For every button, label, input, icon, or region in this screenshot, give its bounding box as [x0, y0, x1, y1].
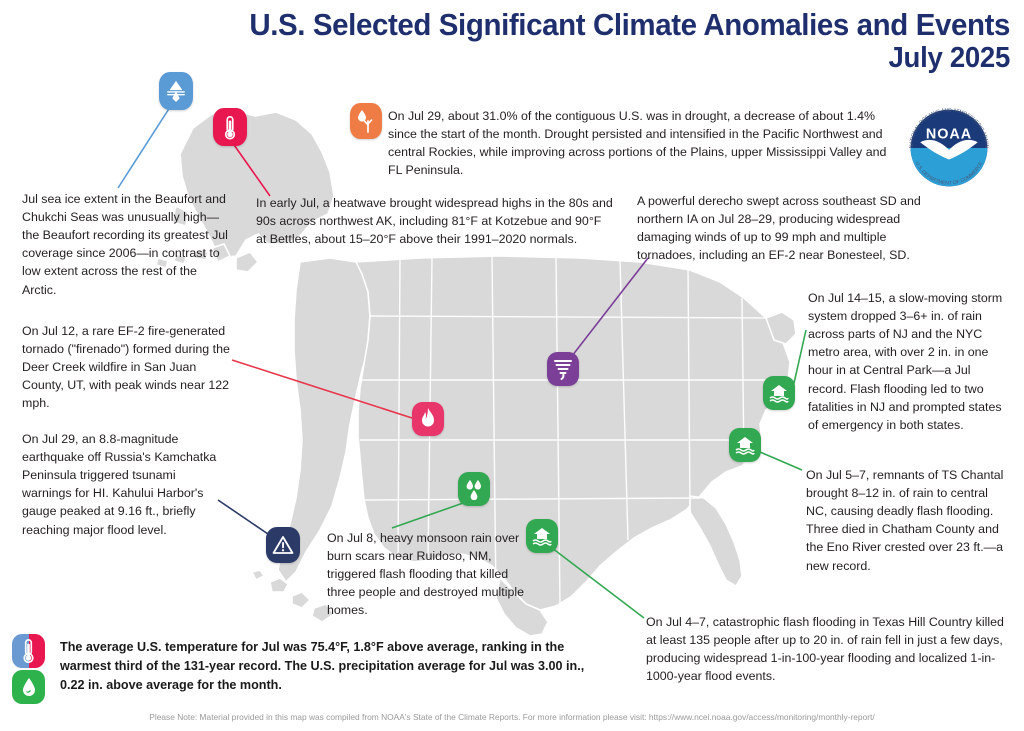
footer-note: Please Note: Material provided in this m…: [0, 712, 1024, 722]
connector-nc: [760, 452, 802, 470]
callout-text-nc: On Jul 5–7, remnants of TS Chantal broug…: [806, 466, 1006, 575]
callout-text-derecho: A powerful derecho swept across southeas…: [637, 192, 937, 264]
callout-text-sea-ice: Jul sea ice extent in the Beaufort and C…: [22, 190, 234, 299]
drought-icon[interactable]: [350, 103, 382, 139]
connector-sea-ice: [118, 104, 172, 188]
legend-text: The average U.S. temperature for Jul was…: [60, 638, 610, 695]
callout-text-firenado: On Jul 12, a rare EF-2 fire-generated to…: [22, 322, 234, 413]
iceberg-icon[interactable]: [159, 72, 193, 110]
connector-derecho: [572, 258, 648, 356]
flood-icon-nj[interactable]: [763, 376, 795, 410]
wildfire-icon[interactable]: [412, 402, 444, 436]
svg-text:NOAA: NOAA: [926, 126, 972, 142]
connector-tx: [552, 548, 644, 618]
callout-text-nm: On Jul 8, heavy monsoon rain over burn s…: [327, 529, 527, 620]
connector-ak-heatwave: [232, 142, 270, 196]
callout-text-drought: On Jul 29, about 31.0% of the contiguous…: [388, 107, 902, 179]
tornado-icon[interactable]: [547, 352, 579, 386]
noaa-logo: NOAA NATIONAL OCEANIC AND ATMOSPHERIC AD…: [901, 100, 997, 196]
callout-text-ak-heatwave: In early Jul, a heatwave brought widespr…: [256, 194, 614, 248]
temperature-icon: [12, 634, 45, 668]
flood-icon-tx[interactable]: [526, 519, 558, 553]
connector-nm: [392, 502, 466, 528]
callout-text-tsunami: On Jul 29, an 8.8-magnitude earthquake o…: [22, 430, 227, 539]
flood-icon-nc[interactable]: [729, 428, 761, 462]
monsoon-icon[interactable]: [458, 472, 490, 506]
callout-text-tx: On Jul 4–7, catastrophic flash flooding …: [646, 613, 1008, 685]
climate-map-page: U.S. Selected Significant Climate Anomal…: [0, 0, 1024, 731]
water-drop-icon: [12, 670, 45, 704]
connector-firenado: [232, 360, 412, 418]
thermometer-icon[interactable]: [213, 108, 247, 146]
callout-text-nj-nyc: On Jul 14–15, a slow-moving storm system…: [808, 289, 1010, 434]
warning-triangle-icon[interactable]: [266, 527, 300, 563]
